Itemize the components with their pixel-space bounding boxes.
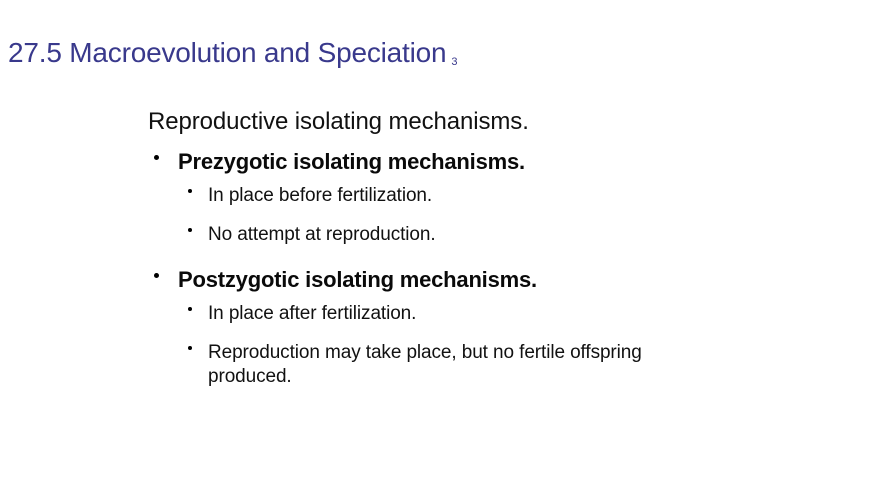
list-item-label: No attempt at reproduction. xyxy=(208,223,720,247)
list-item-label: Prezygotic isolating mechanisms. xyxy=(178,149,525,174)
bullet-dot-icon xyxy=(154,273,159,278)
page-title: 27.5 Macroevolution and Speciation3 xyxy=(8,34,528,71)
slide-body: Reproductive isolating mechanisms. Prezy… xyxy=(148,108,848,403)
page-title-text: 27.5 Macroevolution and Speciation xyxy=(8,37,446,68)
list-item-label: Postzygotic isolating mechanisms. xyxy=(178,267,537,292)
list-item: In place before fertilization. xyxy=(178,184,848,208)
outline-list: Prezygotic isolating mechanisms. In plac… xyxy=(148,149,848,389)
sub-list-prezygotic: In place before fertilization. No attemp… xyxy=(148,184,848,247)
bullet-dot-icon xyxy=(188,346,192,350)
list-item: In place after fertilization. xyxy=(178,302,848,326)
list-item-label: In place after fertilization. xyxy=(208,302,720,326)
sub-list-postzygotic: In place after fertilization. Reproducti… xyxy=(148,302,848,389)
list-item-heading-postzygotic: Postzygotic isolating mechanisms. xyxy=(148,267,848,293)
list-item: Reproduction may take place, but no fert… xyxy=(178,341,848,390)
list-item: No attempt at reproduction. xyxy=(178,223,848,247)
slide-canvas: 27.5 Macroevolution and Speciation3 Repr… xyxy=(0,0,880,495)
list-item-heading-prezygotic: Prezygotic isolating mechanisms. xyxy=(148,149,848,175)
body-lead-line: Reproductive isolating mechanisms. xyxy=(148,108,848,137)
list-item-label: In place before fertilization. xyxy=(208,184,720,208)
bullet-dot-icon xyxy=(154,155,159,160)
page-title-note: 3 xyxy=(451,55,457,70)
bullet-dot-icon xyxy=(188,228,192,232)
bullet-dot-icon xyxy=(188,307,192,311)
list-item-label: Reproduction may take place, but no fert… xyxy=(208,341,720,390)
bullet-dot-icon xyxy=(188,189,192,193)
